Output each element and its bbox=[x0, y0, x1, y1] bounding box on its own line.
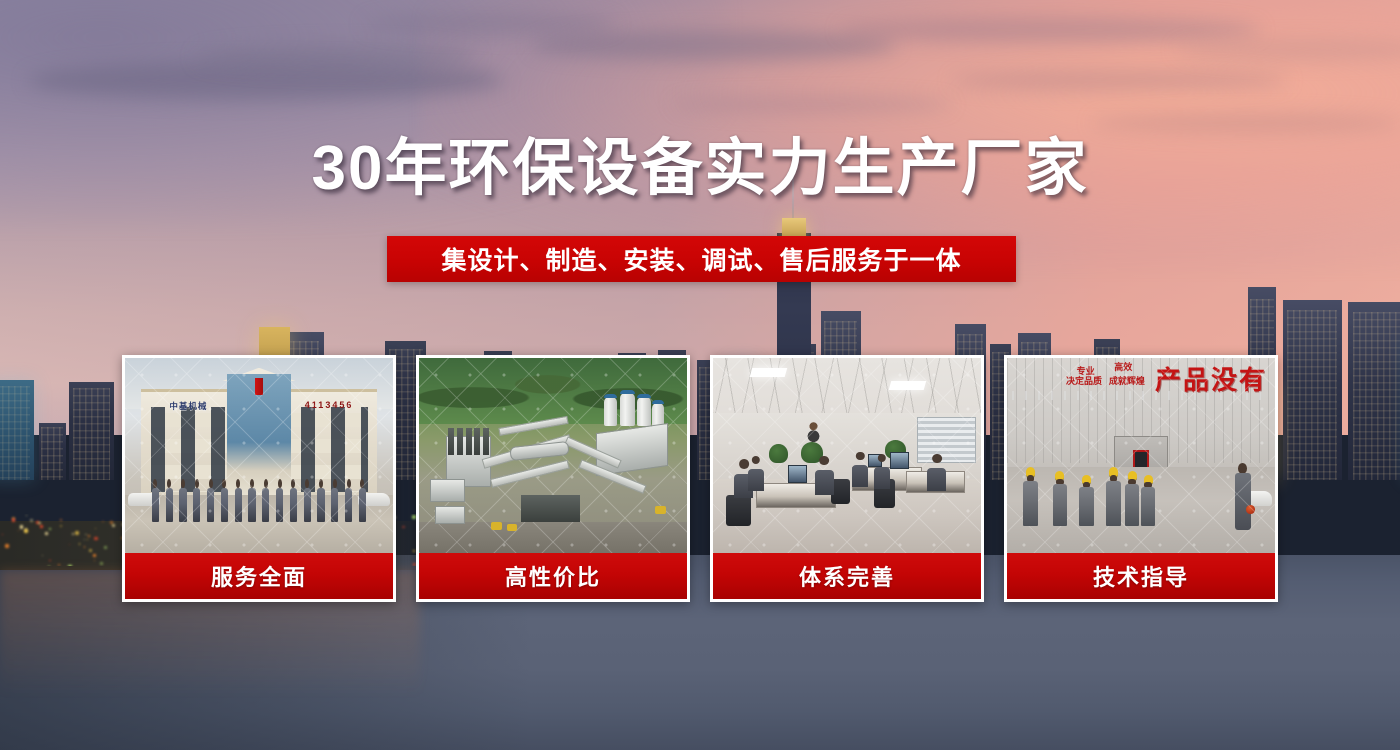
subtitle-banner: 集设计、制造、安装、调试、售后服务于一体 bbox=[387, 236, 1016, 282]
shore-light bbox=[89, 549, 92, 552]
building bbox=[1348, 302, 1400, 480]
factory-worker bbox=[1125, 471, 1139, 526]
shore-light bbox=[112, 524, 116, 528]
feature-card[interactable]: 体系完善 bbox=[710, 355, 984, 602]
shore-light bbox=[69, 544, 70, 545]
shore-light bbox=[79, 543, 80, 544]
excavator bbox=[491, 522, 502, 530]
building-phone-number: 4113456 bbox=[305, 400, 354, 410]
cyclone-tower bbox=[466, 428, 472, 455]
silo bbox=[637, 397, 650, 426]
cyclone-tower bbox=[457, 428, 463, 455]
shore-light bbox=[48, 566, 50, 567]
staff-person bbox=[345, 479, 352, 522]
staff-row bbox=[152, 479, 366, 522]
office-person bbox=[815, 456, 834, 495]
cloud bbox=[196, 44, 476, 70]
shore-light bbox=[88, 535, 90, 537]
factory-worker bbox=[1141, 475, 1155, 526]
staff-person bbox=[248, 479, 255, 522]
excavator bbox=[655, 506, 666, 514]
flag bbox=[255, 378, 263, 396]
cloud bbox=[532, 30, 896, 60]
hero-banner: 30年环保设备实力生产厂家 集设计、制造、安装、调试、售后服务于一体 中基机械 … bbox=[0, 0, 1400, 750]
cyclone-tower bbox=[474, 428, 480, 455]
shore-light bbox=[42, 555, 43, 556]
card-photo-headquarters: 中基机械 4113456 bbox=[125, 358, 393, 553]
cyclone-tower bbox=[448, 428, 454, 455]
staff-person bbox=[304, 479, 311, 522]
shore-light bbox=[94, 560, 95, 561]
building bbox=[39, 423, 66, 480]
shore-light bbox=[49, 528, 51, 530]
shore-light bbox=[24, 529, 28, 533]
staff-person bbox=[317, 479, 324, 522]
card-caption: 技术指导 bbox=[1007, 553, 1275, 599]
card-caption: 服务全面 bbox=[125, 553, 393, 599]
building bbox=[69, 382, 114, 480]
shore-light bbox=[84, 539, 85, 540]
office-person bbox=[927, 454, 946, 491]
cyclone-tower bbox=[483, 428, 489, 455]
factory-wall-slogan-small: 高效 bbox=[1114, 362, 1132, 373]
office-person bbox=[874, 454, 890, 489]
card-caption: 高性价比 bbox=[419, 553, 687, 599]
potted-plant bbox=[769, 444, 788, 464]
shore-light bbox=[30, 519, 33, 522]
card-photo-office bbox=[713, 358, 981, 553]
staff-person bbox=[207, 479, 214, 522]
excavator bbox=[507, 524, 516, 531]
staff-person bbox=[276, 479, 283, 522]
shore-light bbox=[60, 525, 62, 527]
silo bbox=[604, 397, 617, 426]
supervisor bbox=[1235, 463, 1251, 529]
building-signage: 中基机械 bbox=[169, 400, 207, 412]
monitor bbox=[788, 465, 807, 483]
factory-wall-slogan-small: 成就辉煌 bbox=[1109, 376, 1145, 387]
chair bbox=[726, 495, 750, 526]
card-caption: 体系完善 bbox=[713, 553, 981, 599]
factory-worker bbox=[1053, 471, 1067, 526]
shore-light bbox=[85, 534, 87, 536]
shore-light bbox=[49, 560, 50, 561]
office-person bbox=[852, 452, 868, 487]
factory-wall-slogan-small: 决定品质 bbox=[1066, 376, 1102, 387]
shore-light bbox=[60, 519, 62, 521]
shore-light bbox=[95, 528, 97, 530]
staff-person bbox=[359, 479, 366, 522]
shore-light bbox=[5, 544, 8, 547]
staff-person bbox=[152, 479, 159, 522]
shore-light bbox=[68, 565, 71, 567]
shore-light bbox=[12, 518, 15, 521]
silo bbox=[620, 393, 635, 426]
shore-light bbox=[84, 546, 86, 548]
red-helmet bbox=[1246, 505, 1255, 514]
shore-light bbox=[20, 525, 23, 528]
shore-light bbox=[102, 521, 103, 522]
shore-light bbox=[58, 564, 60, 566]
shore-light bbox=[100, 562, 103, 565]
cloud bbox=[1092, 113, 1400, 133]
page-title: 30年环保设备实力生产厂家 bbox=[0, 138, 1400, 200]
cloud bbox=[672, 96, 952, 113]
staff-person bbox=[262, 479, 269, 522]
monitor bbox=[890, 452, 909, 470]
staff-person bbox=[221, 479, 228, 522]
cloud bbox=[364, 13, 616, 35]
shore-light bbox=[94, 537, 98, 541]
cloud bbox=[952, 70, 1288, 92]
office-block bbox=[435, 506, 464, 524]
shore-light bbox=[93, 554, 96, 557]
plant-building bbox=[596, 423, 668, 476]
factory-worker bbox=[1079, 475, 1093, 526]
shore-light bbox=[2, 534, 3, 535]
building bbox=[1283, 300, 1343, 480]
shore-light bbox=[18, 530, 19, 531]
shore-light bbox=[40, 525, 43, 528]
staff-person bbox=[193, 479, 200, 522]
conveyor bbox=[490, 460, 570, 488]
feature-card[interactable]: 高性价比 bbox=[416, 355, 690, 602]
staff-person bbox=[290, 479, 297, 522]
staff-person bbox=[166, 479, 173, 522]
feature-card[interactable]: 产品没有 专业 高效 决定品质 成就辉煌 技术指导 bbox=[1004, 355, 1278, 602]
building bbox=[0, 380, 34, 480]
window-blinds bbox=[917, 417, 976, 464]
ceiling-light bbox=[889, 381, 926, 390]
office-block bbox=[430, 479, 465, 502]
staff-person bbox=[235, 479, 242, 522]
chair bbox=[831, 479, 850, 504]
shore-light bbox=[72, 533, 74, 535]
office-person bbox=[748, 456, 764, 491]
rotary-kiln bbox=[510, 441, 570, 461]
shore-light bbox=[104, 546, 107, 549]
shore-light bbox=[45, 532, 48, 535]
shore-light bbox=[75, 531, 79, 535]
storage-shed bbox=[521, 495, 580, 522]
feature-card[interactable]: 中基机械 4113456 服务全面 bbox=[122, 355, 396, 602]
shore-light bbox=[87, 539, 88, 540]
feature-card-list: 中基机械 4113456 服务全面 高性价比 bbox=[122, 355, 1278, 602]
ceiling-light bbox=[749, 368, 786, 377]
factory-worker bbox=[1023, 467, 1037, 526]
staff-person bbox=[331, 479, 338, 522]
factory-worker bbox=[1106, 467, 1120, 526]
card-photo-factory: 产品没有 专业 高效 决定品质 成就辉煌 bbox=[1007, 358, 1275, 553]
shore-light bbox=[26, 515, 27, 516]
card-photo-plant bbox=[419, 358, 687, 553]
staff-person bbox=[179, 479, 186, 522]
